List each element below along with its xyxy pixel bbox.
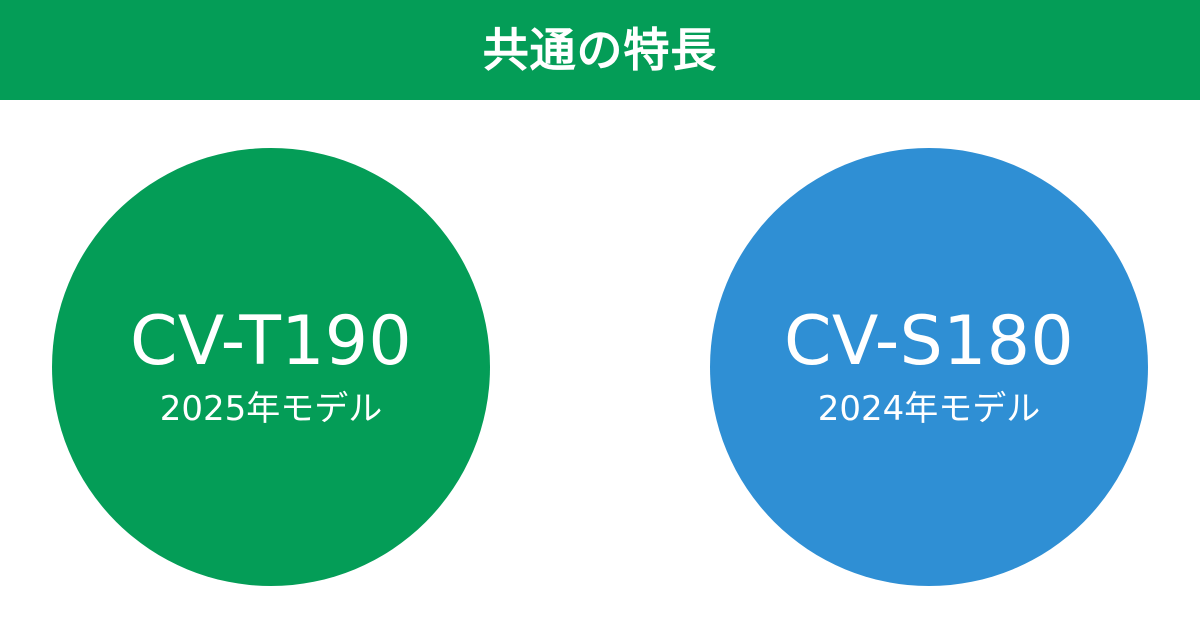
model-circle-cv-t190[interactable]: CV-T190 2025年モデル (52, 148, 490, 586)
model-circle-cv-s180[interactable]: CV-S180 2024年モデル (710, 148, 1148, 586)
page-title: 共通の特長 (483, 27, 718, 73)
model-year-label: 2024年モデル (818, 391, 1041, 428)
comparison-page: 共通の特長 CV-T190 2025年モデル CV-S180 2024年モデル (0, 0, 1200, 630)
model-name-label: CV-T190 (130, 306, 412, 377)
model-year-label: 2025年モデル (160, 391, 383, 428)
model-circles-area: CV-T190 2025年モデル CV-S180 2024年モデル (0, 100, 1200, 630)
header-banner: 共通の特長 (0, 0, 1200, 100)
model-name-label: CV-S180 (784, 306, 1074, 377)
